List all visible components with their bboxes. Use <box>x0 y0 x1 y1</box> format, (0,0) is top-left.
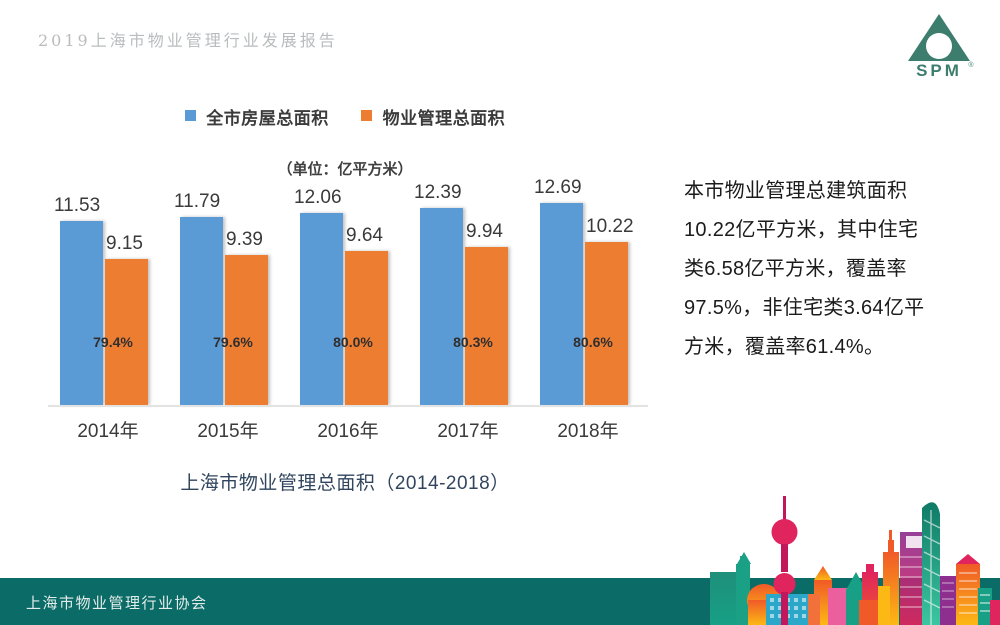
chart-panel: 全市房屋总面积 物业管理总面积 （单位：亿平方米） 11.539.1579.4%… <box>30 104 660 504</box>
bar-total-area <box>420 208 463 405</box>
spm-logo-icon: SPM ® <box>902 8 976 80</box>
chart-group: 12.399.9480.3% <box>408 190 528 405</box>
legend-item-managed-area: 物业管理总面积 <box>361 104 505 129</box>
x-axis-tick: 2018年 <box>528 416 648 443</box>
bar-value-total-area: 12.06 <box>294 187 342 209</box>
spm-logo: SPM ® <box>902 8 976 80</box>
chart-group: 11.799.3979.6% <box>168 190 288 405</box>
chart-plot-area: 11.539.1579.4%11.799.3979.6%12.069.6480.… <box>48 190 648 405</box>
legend-swatch-orange <box>361 110 372 121</box>
chart-group: 12.6910.2280.6% <box>528 190 648 405</box>
bar-value-managed-area: 9.39 <box>226 229 263 251</box>
bar-value-total-area: 11.53 <box>54 195 100 217</box>
bar-total-area <box>300 213 343 405</box>
page-header: 2019上海市物业管理行业发展报告 SPM ® <box>0 0 1000 86</box>
chart-caption: 上海市物业管理总面积（2014-2018） <box>30 468 660 495</box>
svg-text:®: ® <box>968 61 974 69</box>
x-axis-tick: 2014年 <box>48 416 168 443</box>
bar-total-area <box>60 221 103 405</box>
summary-paragraph: 本市物业管理总建筑面积10.22亿平方米，其中住宅类6.58亿平方米，覆盖率97… <box>684 172 936 367</box>
coverage-rate-label: 80.0% <box>318 334 388 350</box>
bar-value-managed-area: 9.15 <box>106 233 143 255</box>
coverage-rate-label: 79.6% <box>198 334 268 350</box>
x-axis-tick: 2015年 <box>168 416 288 443</box>
coverage-rate-label: 79.4% <box>78 334 148 350</box>
bar-value-managed-area: 9.94 <box>466 221 503 243</box>
coverage-rate-label: 80.6% <box>558 334 628 350</box>
legend-swatch-blue <box>185 110 196 121</box>
chart-group: 12.069.6480.0% <box>288 190 408 405</box>
bar-managed-area <box>465 247 508 405</box>
coverage-rate-label: 80.3% <box>438 334 508 350</box>
bar-managed-area <box>105 259 148 405</box>
legend-label-total-area: 全市房屋总面积 <box>206 104 329 129</box>
bar-managed-area <box>345 251 388 405</box>
chart-legend: 全市房屋总面积 物业管理总面积 <box>30 104 660 129</box>
bar-managed-area <box>225 255 268 405</box>
legend-item-total-area: 全市房屋总面积 <box>185 104 329 129</box>
x-axis-tick: 2017年 <box>408 416 528 443</box>
bar-value-managed-area: 10.22 <box>586 216 634 238</box>
footer-organization: 上海市物业管理行业协会 <box>26 592 208 613</box>
bar-total-area <box>540 203 583 405</box>
chart-group: 11.539.1579.4% <box>48 190 168 405</box>
legend-label-managed-area: 物业管理总面积 <box>383 104 506 129</box>
chart-axis-line <box>48 405 648 407</box>
bar-managed-area <box>585 242 628 405</box>
bar-value-total-area: 12.69 <box>534 177 582 199</box>
chart-unit-note: （单位：亿平方米） <box>30 158 660 179</box>
bar-total-area <box>180 217 223 405</box>
bar-value-managed-area: 9.64 <box>346 225 383 247</box>
bar-value-total-area: 11.79 <box>174 191 220 213</box>
bar-value-total-area: 12.39 <box>414 182 462 204</box>
page-title: 2019上海市物业管理行业发展报告 <box>38 27 338 51</box>
x-axis-tick: 2016年 <box>288 416 408 443</box>
svg-text:SPM: SPM <box>916 61 962 80</box>
